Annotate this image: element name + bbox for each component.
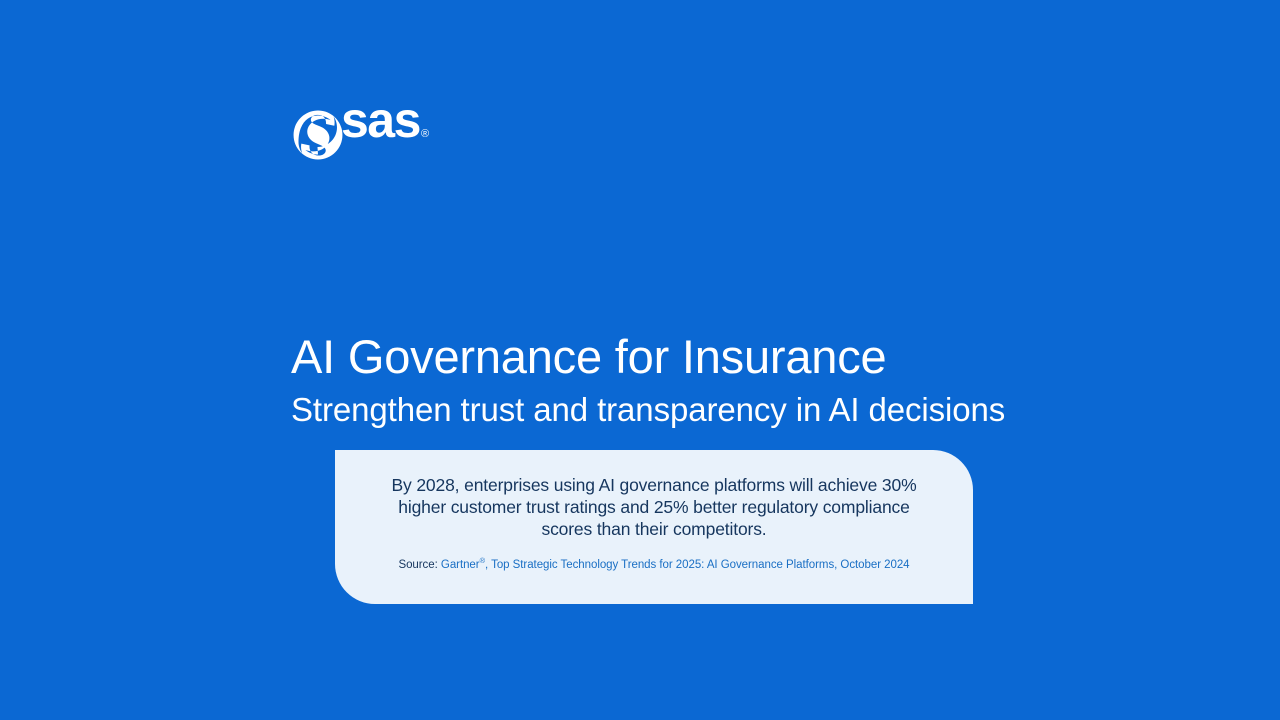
statistic-callout-card: By 2028, enterprises using AI governance… — [335, 450, 973, 604]
sas-circle-s-logo-icon — [292, 109, 344, 161]
callout-statement: By 2028, enterprises using AI governance… — [375, 474, 933, 540]
sas-logo[interactable]: sas® — [292, 103, 427, 161]
slide-subtitle: Strengthen trust and transparency in AI … — [291, 389, 1005, 431]
slide-canvas: sas® AI Governance for Insurance Strengt… — [0, 0, 1280, 720]
slide-title: AI Governance for Insurance — [291, 329, 886, 385]
source-citation-link[interactable]: Gartner®, Top Strategic Technology Trend… — [441, 559, 910, 571]
source-label: Source: — [398, 559, 437, 571]
registered-mark-icon: ® — [421, 128, 428, 140]
source-name: Gartner — [441, 559, 480, 571]
source-citation-text: , Top Strategic Technology Trends for 20… — [485, 559, 909, 571]
sas-wordmark: sas® — [341, 95, 427, 159]
callout-source-line: Source: Gartner®, Top Strategic Technolo… — [375, 558, 933, 572]
